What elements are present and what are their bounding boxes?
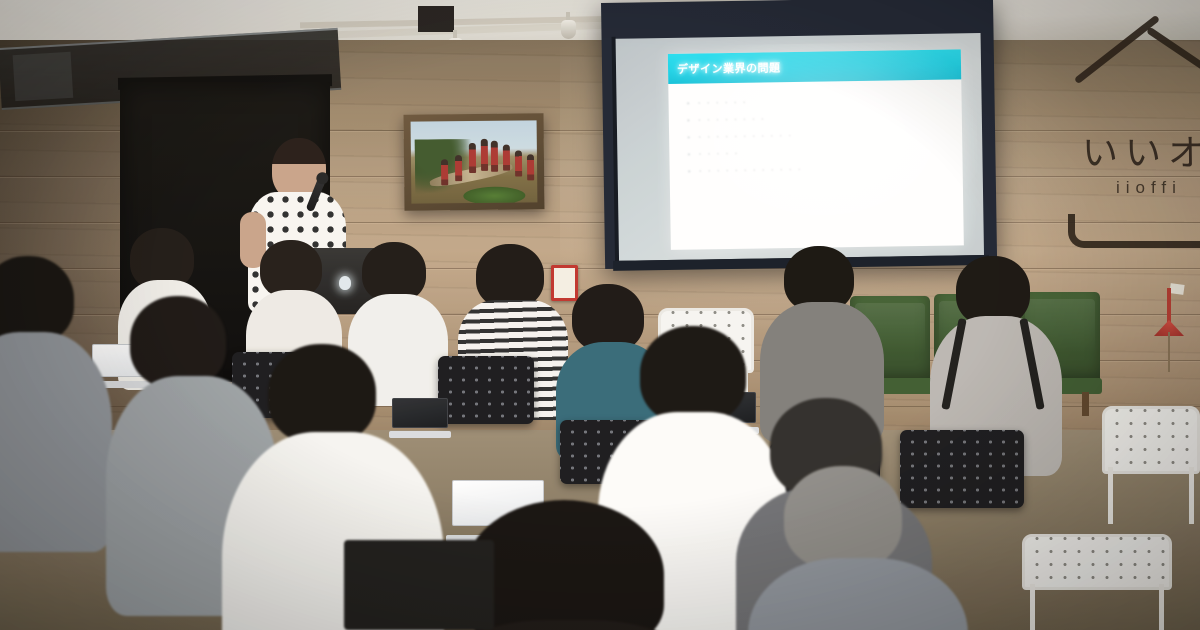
framed-artwork (404, 113, 545, 210)
white-chair (1102, 406, 1200, 524)
sofa-leg (1082, 392, 1089, 416)
laptop (392, 398, 448, 438)
projection-screen: デザイン業界の問題 ・・・・・・ ・・・・・・・・ ・・・・・・・・・・・ ・・… (601, 0, 997, 269)
apple-logo-icon (339, 276, 351, 290)
ceiling-fixture-box (418, 6, 454, 32)
wall-notice-sign (551, 265, 578, 301)
slide-bullet-list: ・・・・・・ ・・・・・・・・ ・・・・・・・・・・・ ・・・・・ ・・・・・・… (686, 92, 937, 181)
black-chair (900, 430, 1024, 508)
house-outline-icon (1070, 22, 1200, 94)
spotlight (561, 20, 576, 39)
slide-bullet: ・・・・・・・・・・・・ (688, 160, 938, 181)
screen-surface: デザイン業界の問題 ・・・・・・ ・・・・・・・・ ・・・・・・・・・・・ ・・… (616, 33, 984, 261)
venue-logo: いいオフ iioffi (1040, 16, 1200, 246)
slide: デザイン業界の問題 ・・・・・・ ・・・・・・・・ ・・・・・・・・・・・ ・・… (668, 49, 964, 250)
slide-title: デザイン業界の問題 (677, 59, 781, 77)
black-chair (438, 356, 534, 424)
backpack (344, 540, 494, 630)
presentation-photo: デザイン業界の問題 ・・・・・・ ・・・・・・・・ ・・・・・・・・・・・ ・・… (0, 0, 1200, 630)
venue-logo-japanese: いいオフ (1082, 124, 1200, 176)
logo-underline (1068, 214, 1200, 248)
venue-logo-roman: iioffi (1116, 178, 1182, 198)
white-chair (1022, 534, 1172, 630)
laptop-screen (392, 398, 448, 428)
artwork-image (411, 120, 538, 203)
red-wall-ornament (1158, 288, 1180, 350)
